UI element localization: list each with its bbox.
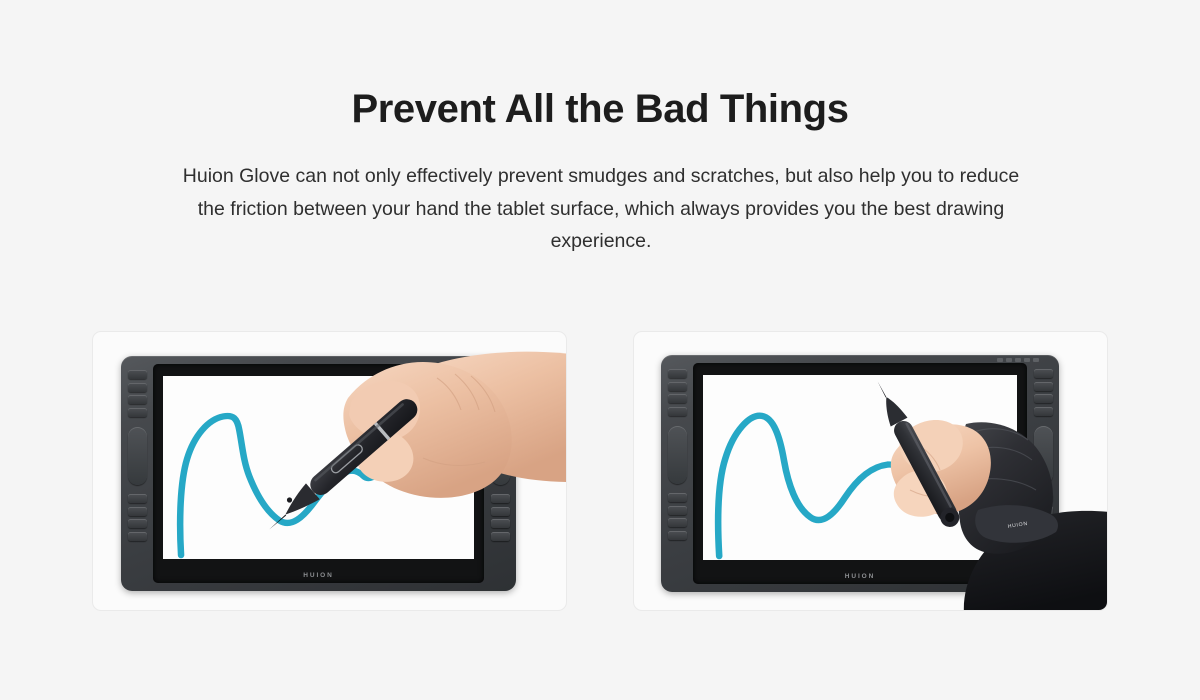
- express-keys-right[interactable]: [1032, 369, 1054, 543]
- express-key[interactable]: [128, 395, 147, 404]
- express-key[interactable]: [491, 395, 510, 404]
- express-key[interactable]: [128, 532, 147, 541]
- express-keys-left[interactable]: [666, 369, 688, 543]
- express-key-pill[interactable]: [668, 426, 687, 484]
- express-key[interactable]: [668, 518, 687, 527]
- teal-curve-gloved: [703, 375, 1017, 560]
- express-key-pill[interactable]: [491, 427, 510, 485]
- graphics-tablet: HUION: [121, 356, 516, 591]
- express-key[interactable]: [668, 382, 687, 391]
- express-key[interactable]: [1034, 382, 1053, 391]
- express-key[interactable]: [128, 408, 147, 417]
- page-description: Huion Glove can not only effectively pre…: [170, 160, 1032, 258]
- express-key[interactable]: [668, 407, 687, 416]
- express-key[interactable]: [128, 383, 147, 392]
- express-key[interactable]: [1034, 394, 1053, 403]
- tablet-top-markings: [997, 358, 1039, 362]
- express-key[interactable]: [491, 519, 510, 528]
- express-key[interactable]: [491, 408, 510, 417]
- express-key[interactable]: [128, 519, 147, 528]
- express-key[interactable]: [1034, 369, 1053, 378]
- express-key[interactable]: [1034, 518, 1053, 527]
- express-key[interactable]: [1034, 407, 1053, 416]
- tablet-screen: [703, 375, 1017, 560]
- express-key[interactable]: [491, 383, 510, 392]
- express-key[interactable]: [491, 507, 510, 516]
- express-keys-left[interactable]: [126, 370, 148, 544]
- express-key[interactable]: [1034, 493, 1053, 502]
- express-key[interactable]: [668, 493, 687, 502]
- express-key[interactable]: [128, 494, 147, 503]
- express-key-pill[interactable]: [1034, 426, 1053, 484]
- express-key[interactable]: [668, 531, 687, 540]
- express-key[interactable]: [491, 532, 510, 541]
- gloved-hand-panel: HUION: [633, 331, 1108, 611]
- page-title: Prevent All the Bad Things: [0, 84, 1200, 134]
- express-key[interactable]: [668, 394, 687, 403]
- express-key[interactable]: [668, 369, 687, 378]
- tablet-bezel: HUION: [153, 364, 484, 583]
- express-key[interactable]: [128, 507, 147, 516]
- tablet-bezel: HUION: [693, 363, 1027, 584]
- express-key[interactable]: [1034, 506, 1053, 515]
- tablet-screen: [163, 376, 474, 559]
- express-key[interactable]: [668, 506, 687, 515]
- express-key[interactable]: [1034, 531, 1053, 540]
- express-key[interactable]: [491, 370, 510, 379]
- bare-hand-panel: HUION: [92, 331, 567, 611]
- express-key[interactable]: [128, 370, 147, 379]
- express-keys-right[interactable]: [489, 370, 511, 544]
- tablet-brand-logo: HUION: [693, 573, 1027, 580]
- tablet-brand-logo: HUION: [153, 572, 484, 579]
- graphics-tablet: HUION: [661, 355, 1059, 592]
- express-key-pill[interactable]: [128, 427, 147, 485]
- express-key[interactable]: [491, 494, 510, 503]
- promo-page: Prevent All the Bad Things Huion Glove c…: [0, 0, 1200, 700]
- teal-curve-bare: [163, 376, 474, 559]
